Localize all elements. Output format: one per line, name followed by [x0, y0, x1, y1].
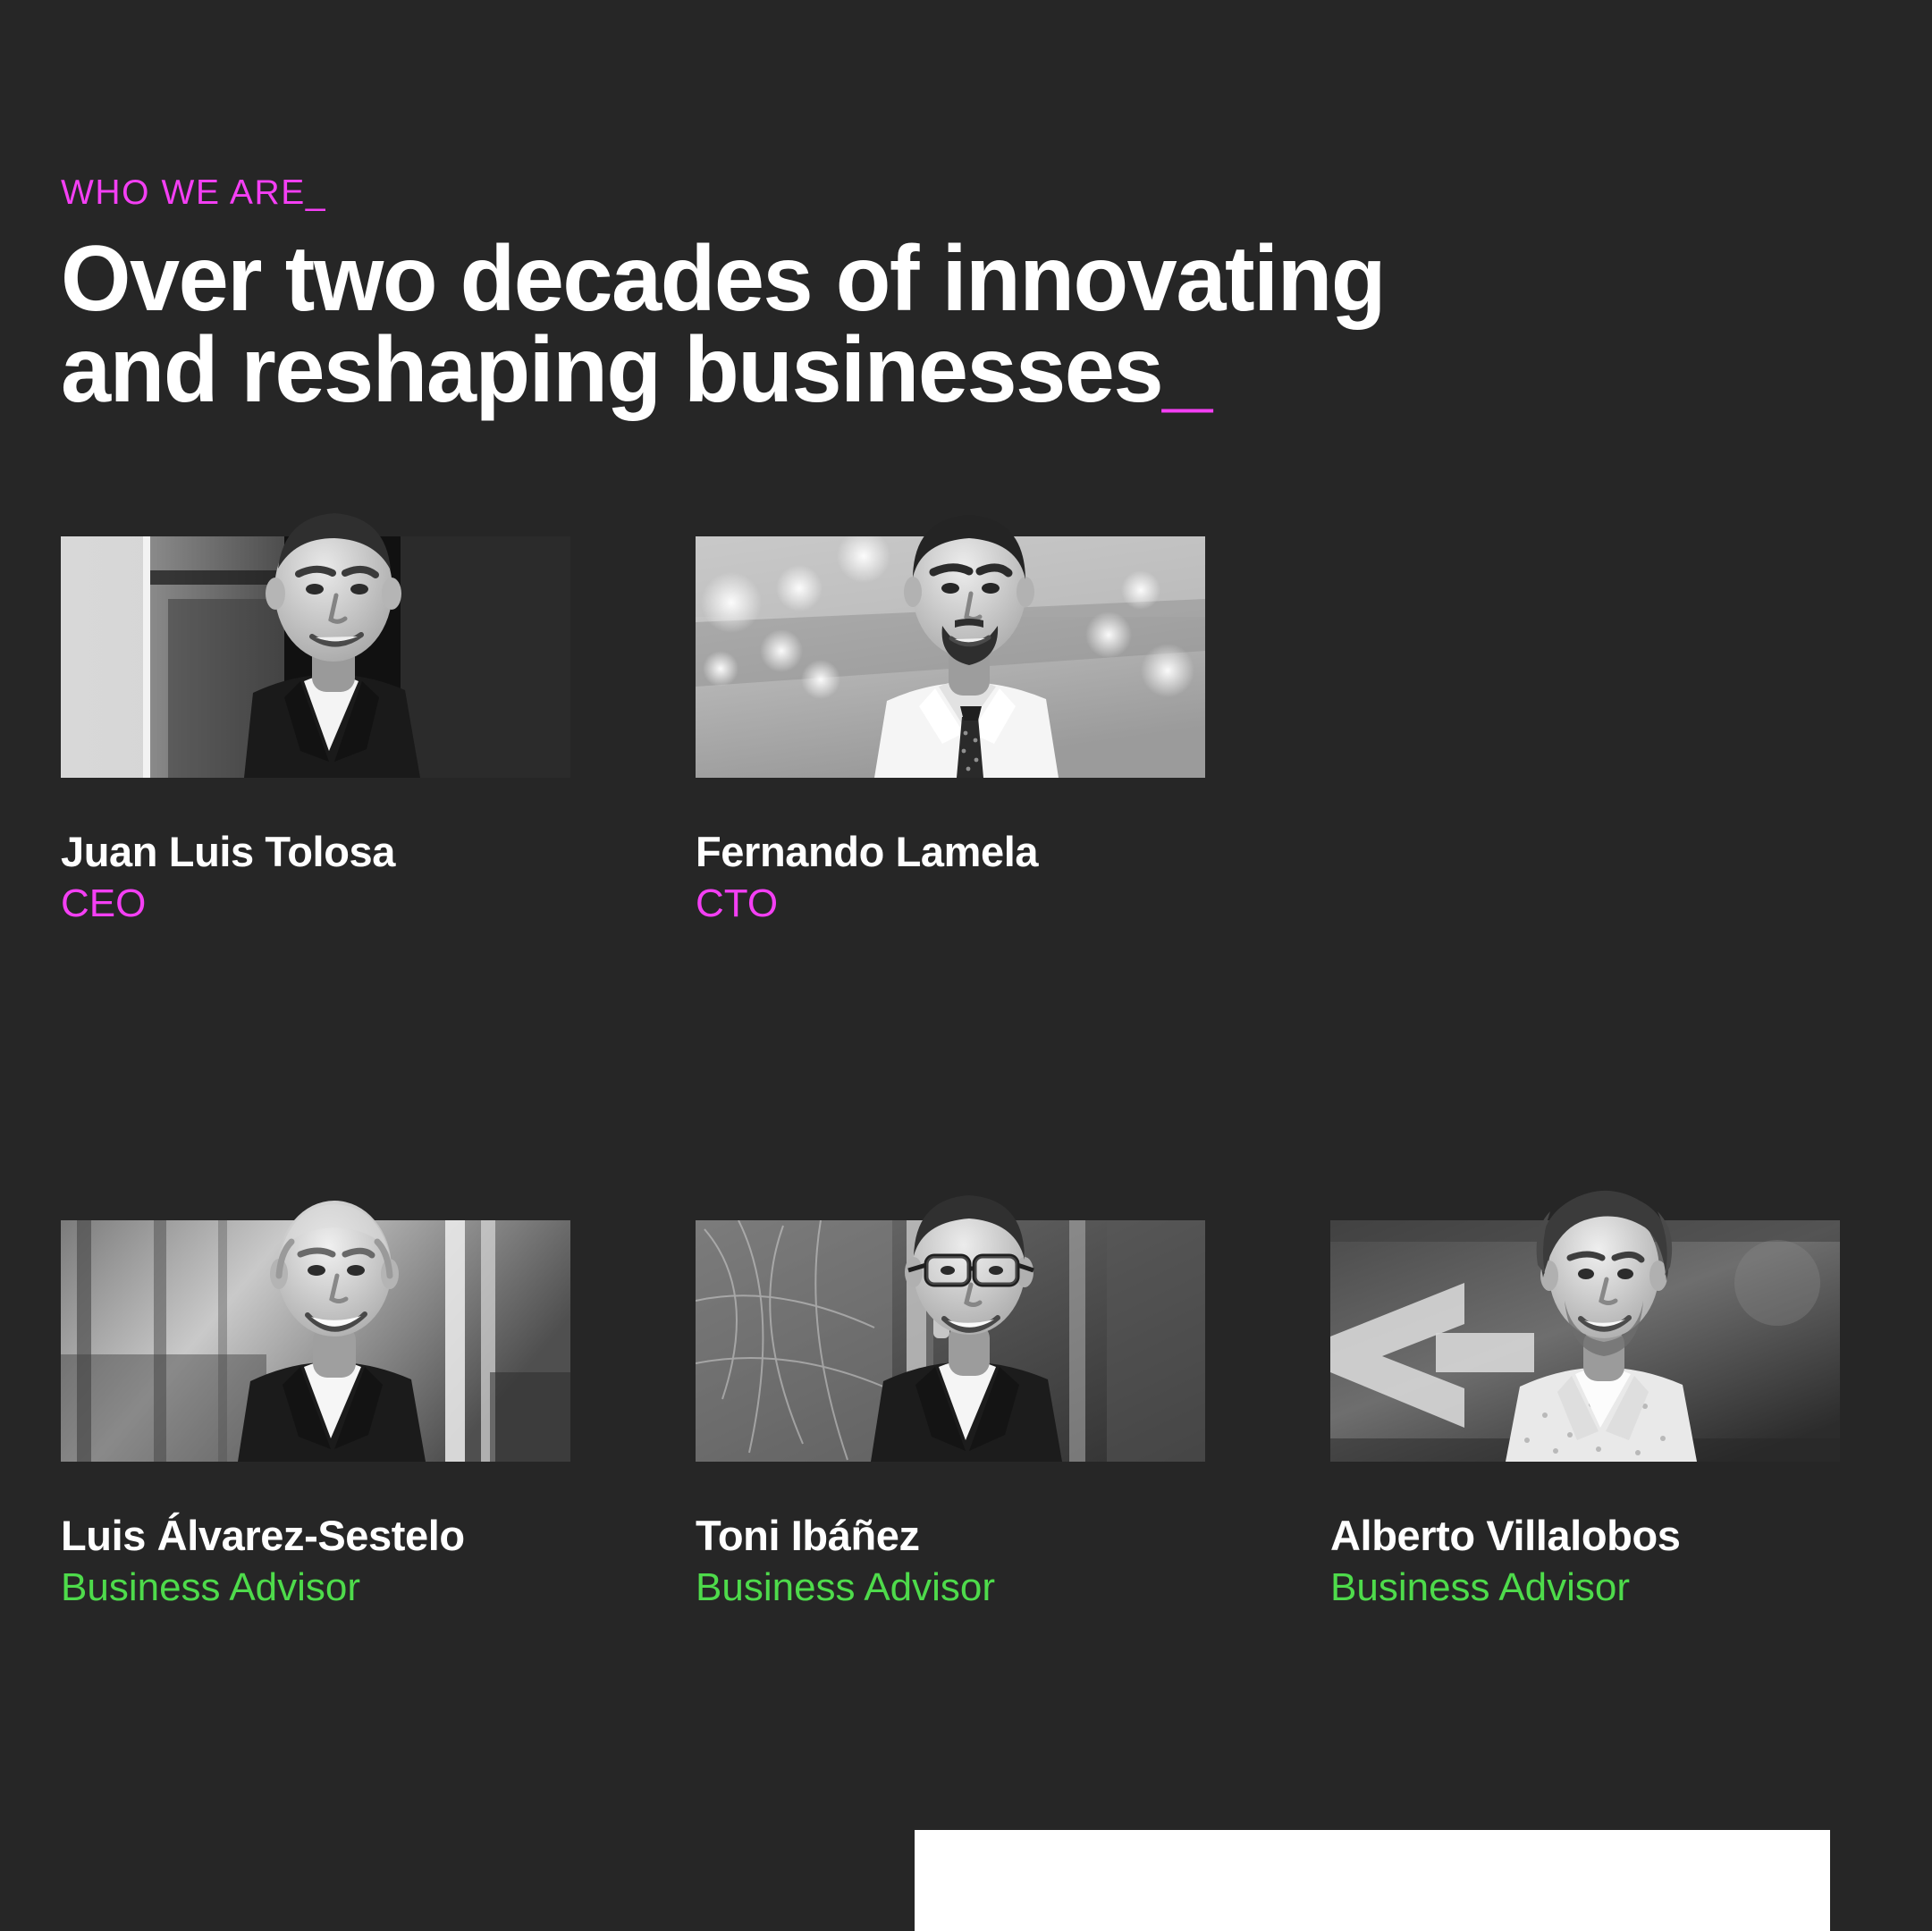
team-member-card[interactable]: Juan Luis Tolosa CEO: [61, 536, 570, 925]
headline-line-2: and reshaping businesses: [61, 318, 1162, 422]
team-member-role: Business Advisor: [696, 1566, 1205, 1609]
team-grid: Juan Luis Tolosa CEO: [61, 536, 1876, 1609]
portrait-frame: [1330, 1220, 1840, 1462]
portrait-subject: [61, 1167, 570, 1462]
team-member-meta: Alberto Villalobos Business Advisor: [1330, 1514, 1840, 1609]
who-we-are-section: WHO WE ARE_ Over two decades of innovati…: [0, 0, 1932, 1931]
team-member-card[interactable]: Alberto Villalobos Business Advisor: [1330, 1220, 1840, 1609]
team-member-card[interactable]: Luis Álvarez-Sestelo Business Advisor: [61, 1220, 570, 1609]
team-member-role: Business Advisor: [1330, 1566, 1840, 1609]
team-member-role: CTO: [696, 882, 1205, 925]
team-member-meta: Juan Luis Tolosa CEO: [61, 830, 570, 925]
portrait-frame: [61, 1220, 570, 1462]
portrait-luis-alvarez-sestelo: [61, 1167, 570, 1462]
portrait-frame: [696, 1220, 1205, 1462]
team-member-name: Juan Luis Tolosa: [61, 830, 570, 875]
team-member-name: Alberto Villalobos: [1330, 1514, 1840, 1559]
section-header: WHO WE ARE_ Over two decades of innovati…: [61, 175, 1813, 417]
headline-line-1: Over two decades of innovating: [61, 234, 1760, 325]
team-row: Juan Luis Tolosa CEO: [61, 536, 1876, 925]
portrait-frame: [61, 536, 570, 778]
team-member-meta: Toni Ibáñez Business Advisor: [696, 1514, 1205, 1609]
portrait-frame: [696, 536, 1205, 778]
bottom-white-panel: [915, 1830, 1830, 1931]
section-eyebrow: WHO WE ARE_: [61, 175, 1813, 210]
portrait-fernando-lamela: [696, 483, 1205, 778]
team-member-role: CEO: [61, 882, 570, 925]
page-title: Over two decades of innovating and resha…: [61, 234, 1760, 417]
team-row: Luis Álvarez-Sestelo Business Advisor: [61, 1220, 1876, 1609]
team-member-meta: Luis Álvarez-Sestelo Business Advisor: [61, 1514, 570, 1609]
team-member-name: Toni Ibáñez: [696, 1514, 1205, 1559]
portrait-subject: [696, 483, 1205, 778]
portrait-juan-luis-tolosa: [61, 483, 570, 778]
team-member-card[interactable]: Toni Ibáñez Business Advisor: [696, 1220, 1205, 1609]
portrait-subject: [61, 483, 570, 778]
team-member-meta: Fernando Lamela CTO: [696, 830, 1205, 925]
portrait-subject: [1330, 1167, 1840, 1462]
portrait-toni-ibanez: [696, 1167, 1205, 1462]
headline-cursor-icon: _: [1162, 318, 1211, 422]
headline-line-2-wrap: and reshaping businesses_: [61, 325, 1760, 417]
portrait-subject: [696, 1167, 1205, 1462]
portrait-alberto-villalobos: [1330, 1167, 1840, 1462]
team-member-card[interactable]: Fernando Lamela CTO: [696, 536, 1205, 925]
team-member-name: Fernando Lamela: [696, 830, 1205, 875]
team-member-role: Business Advisor: [61, 1566, 570, 1609]
team-member-name: Luis Álvarez-Sestelo: [61, 1514, 570, 1559]
